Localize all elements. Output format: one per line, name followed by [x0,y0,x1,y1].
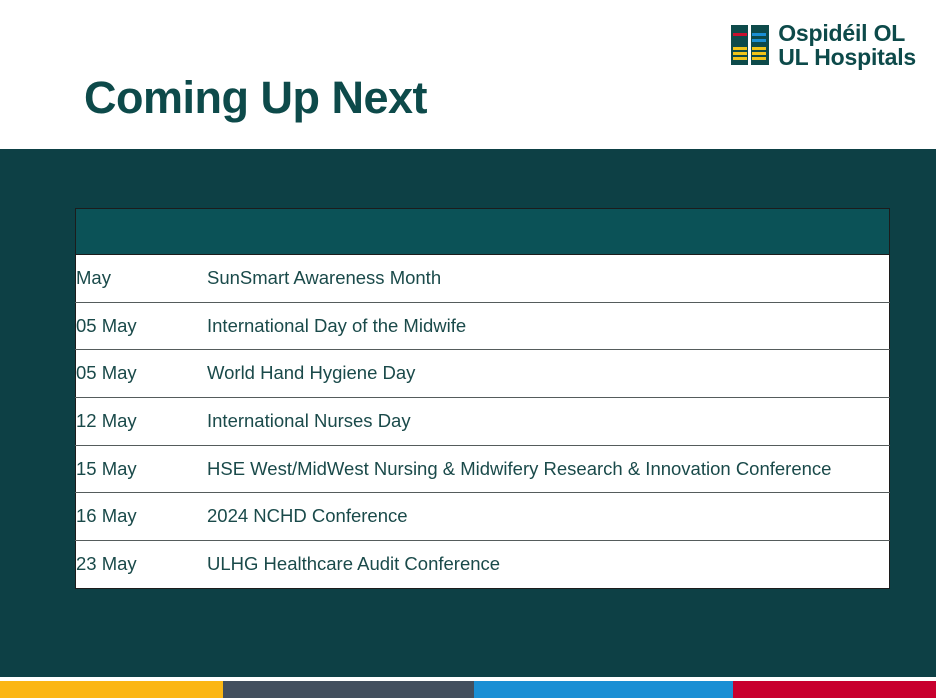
table-row: 16 May2024 NCHD Conference [76,493,890,541]
table-row: 12 MayInternational Nurses Day [76,398,890,446]
logo-bar-blue [752,33,766,36]
logo-bar-yellow [733,52,747,55]
cell-date: 23 May [76,541,208,589]
table-row: 05 MayInternational Day of the Midwife [76,302,890,350]
logo-wordmark-line2: UL Hospitals [778,45,916,69]
table-row: 23 MayULHG Healthcare Audit Conference [76,541,890,589]
schedule-table-body: MaySunSmart Awareness Month05 MayInterna… [76,255,890,589]
cell-date: May [76,255,208,303]
table-row: 15 MayHSE West/MidWest Nursing & Midwife… [76,445,890,493]
logo-bar-blue [752,39,766,42]
table-row: MaySunSmart Awareness Month [76,255,890,303]
logo-bar-yellow [752,47,766,50]
table-row: 05 MayWorld Hand Hygiene Day [76,350,890,398]
logo-bar-dark [733,38,747,41]
logo-bar-yellow [733,57,747,60]
cell-event: 2024 NCHD Conference [207,493,890,541]
schedule-table-head [76,209,890,255]
cell-event: International Day of the Midwife [207,302,890,350]
logo-wordmark-line1: Ospidéil OL [778,21,916,45]
column-header-event [207,209,890,255]
logo-bar-yellow [752,52,766,55]
strip-red [733,681,936,698]
bottom-color-strip [0,681,936,698]
logo-column-divider [748,25,751,65]
strip-yellow [0,681,223,698]
page-title: Coming Up Next [84,72,427,124]
cell-event: International Nurses Day [207,398,890,446]
cell-date: 16 May [76,493,208,541]
logo-bar-red [733,33,747,36]
schedule-table: MaySunSmart Awareness Month05 MayInterna… [75,208,890,589]
cell-date: 05 May [76,302,208,350]
cell-date: 15 May [76,445,208,493]
ul-hospitals-logo: Ospidéil OL UL Hospitals [731,21,916,70]
cell-event: HSE West/MidWest Nursing & Midwifery Res… [207,445,890,493]
logo-bar-yellow [752,57,766,60]
ul-hospitals-logo-mark [731,25,769,65]
column-header-date [76,209,208,255]
cell-date: 05 May [76,350,208,398]
strip-blue [474,681,733,698]
logo-wordmark: Ospidéil OL UL Hospitals [778,21,916,70]
slide-root: Ospidéil OL UL Hospitals Coming Up Next … [0,0,936,698]
cell-date: 12 May [76,398,208,446]
logo-bar-yellow [733,47,747,50]
table-header-row [76,209,890,255]
cell-event: World Hand Hygiene Day [207,350,890,398]
strip-slate [223,681,474,698]
cell-event: ULHG Healthcare Audit Conference [207,541,890,589]
cell-event: SunSmart Awareness Month [207,255,890,303]
